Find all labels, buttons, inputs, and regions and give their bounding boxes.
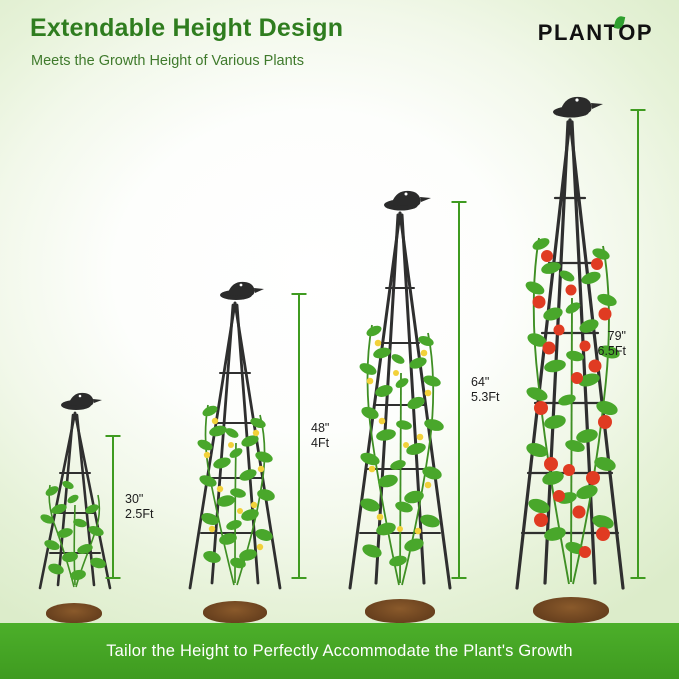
ruler-cap-bottom <box>292 577 307 579</box>
page-subtitle: Meets the Growth Height of Various Plant… <box>31 53 304 69</box>
brand-logo: PLANTOP <box>538 20 653 46</box>
ruler-cap-bottom <box>631 577 646 579</box>
obelisk-frame-2 <box>160 263 310 623</box>
ruler-cap-top <box>631 109 646 111</box>
product-infographic: Extendable Height Design Meets the Growt… <box>0 0 679 679</box>
height-label-1: 30" 2.5Ft <box>125 492 154 522</box>
ruler-line <box>112 435 114 579</box>
obelisk-frame-4 <box>485 78 655 623</box>
height-ruler-1: 30" 2.5Ft <box>112 435 114 579</box>
bird-finial-icon <box>553 97 603 118</box>
obelisk-frame-3 <box>320 173 480 623</box>
height-ruler-3: 64" 5.3Ft <box>458 201 460 579</box>
banner-text: Tailor the Height to Perfectly Accommoda… <box>106 642 573 661</box>
trellis-config-1 <box>10 373 140 623</box>
ruler-line <box>458 201 460 579</box>
trellis-config-2 <box>160 263 310 623</box>
soil-mound-3 <box>365 599 435 623</box>
ruler-cap-top <box>292 293 307 295</box>
soil-mound-1 <box>46 603 102 623</box>
ruler-cap-top <box>106 435 121 437</box>
soil-mound-4 <box>533 597 609 623</box>
height-ruler-4: 79" 6.5Ft <box>637 109 639 579</box>
bottom-banner: Tailor the Height to Perfectly Accommoda… <box>0 623 679 679</box>
ruler-cap-bottom <box>106 577 121 579</box>
obelisk-frame-1 <box>10 373 140 623</box>
ruler-line <box>298 293 300 579</box>
bird-finial-icon <box>220 282 264 300</box>
height-label-4: 79" 6.5Ft <box>598 329 627 359</box>
ruler-cap-bottom <box>452 577 467 579</box>
soil-mound-2 <box>203 601 267 623</box>
ruler-cap-top <box>452 201 467 203</box>
height-ruler-2: 48" 4Ft <box>298 293 300 579</box>
trellis-config-4 <box>485 78 655 623</box>
ruler-line <box>637 109 639 579</box>
brand-name: PLANTOP <box>538 20 653 45</box>
bird-finial-icon <box>384 191 431 211</box>
trellis-config-3 <box>320 173 480 623</box>
bird-finial-icon <box>61 393 102 410</box>
page-title: Extendable Height Design <box>30 14 343 43</box>
